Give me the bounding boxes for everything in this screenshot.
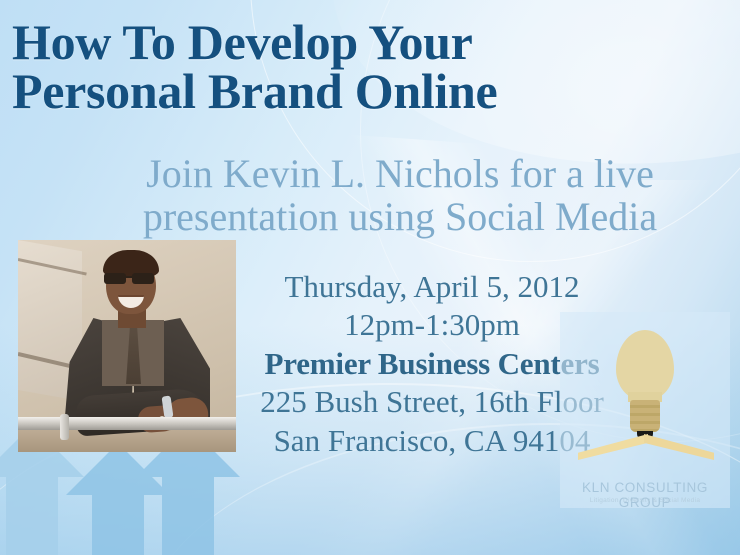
page-title: How To Develop Your Personal Brand Onlin… bbox=[12, 18, 728, 116]
logo-company-name: KLN CONSULTING GROUP bbox=[560, 480, 730, 510]
title-line-2: Personal Brand Online bbox=[12, 67, 728, 116]
logo-tagline: Litigation, Diversity & Social Media bbox=[560, 497, 730, 504]
sunglasses-icon bbox=[103, 273, 159, 284]
event-date: Thursday, April 5, 2012 bbox=[200, 268, 664, 306]
photo-railing-post bbox=[60, 414, 69, 440]
lightbulb-base bbox=[630, 400, 660, 432]
event-flyer: How To Develop Your Personal Brand Onlin… bbox=[0, 0, 740, 555]
subtitle-line-1: Join Kevin L. Nichols for a live bbox=[70, 152, 730, 195]
open-book-icon-right-page bbox=[644, 434, 714, 460]
kln-logo: KLN CONSULTING GROUP Litigation, Diversi… bbox=[560, 312, 730, 508]
subtitle-line-2: presentation using Social Media bbox=[70, 195, 730, 238]
subtitle: Join Kevin L. Nichols for a live present… bbox=[70, 152, 730, 238]
lightbulb-icon bbox=[616, 330, 674, 400]
title-line-1: How To Develop Your bbox=[12, 18, 728, 67]
open-book-icon-left-page bbox=[578, 434, 648, 460]
